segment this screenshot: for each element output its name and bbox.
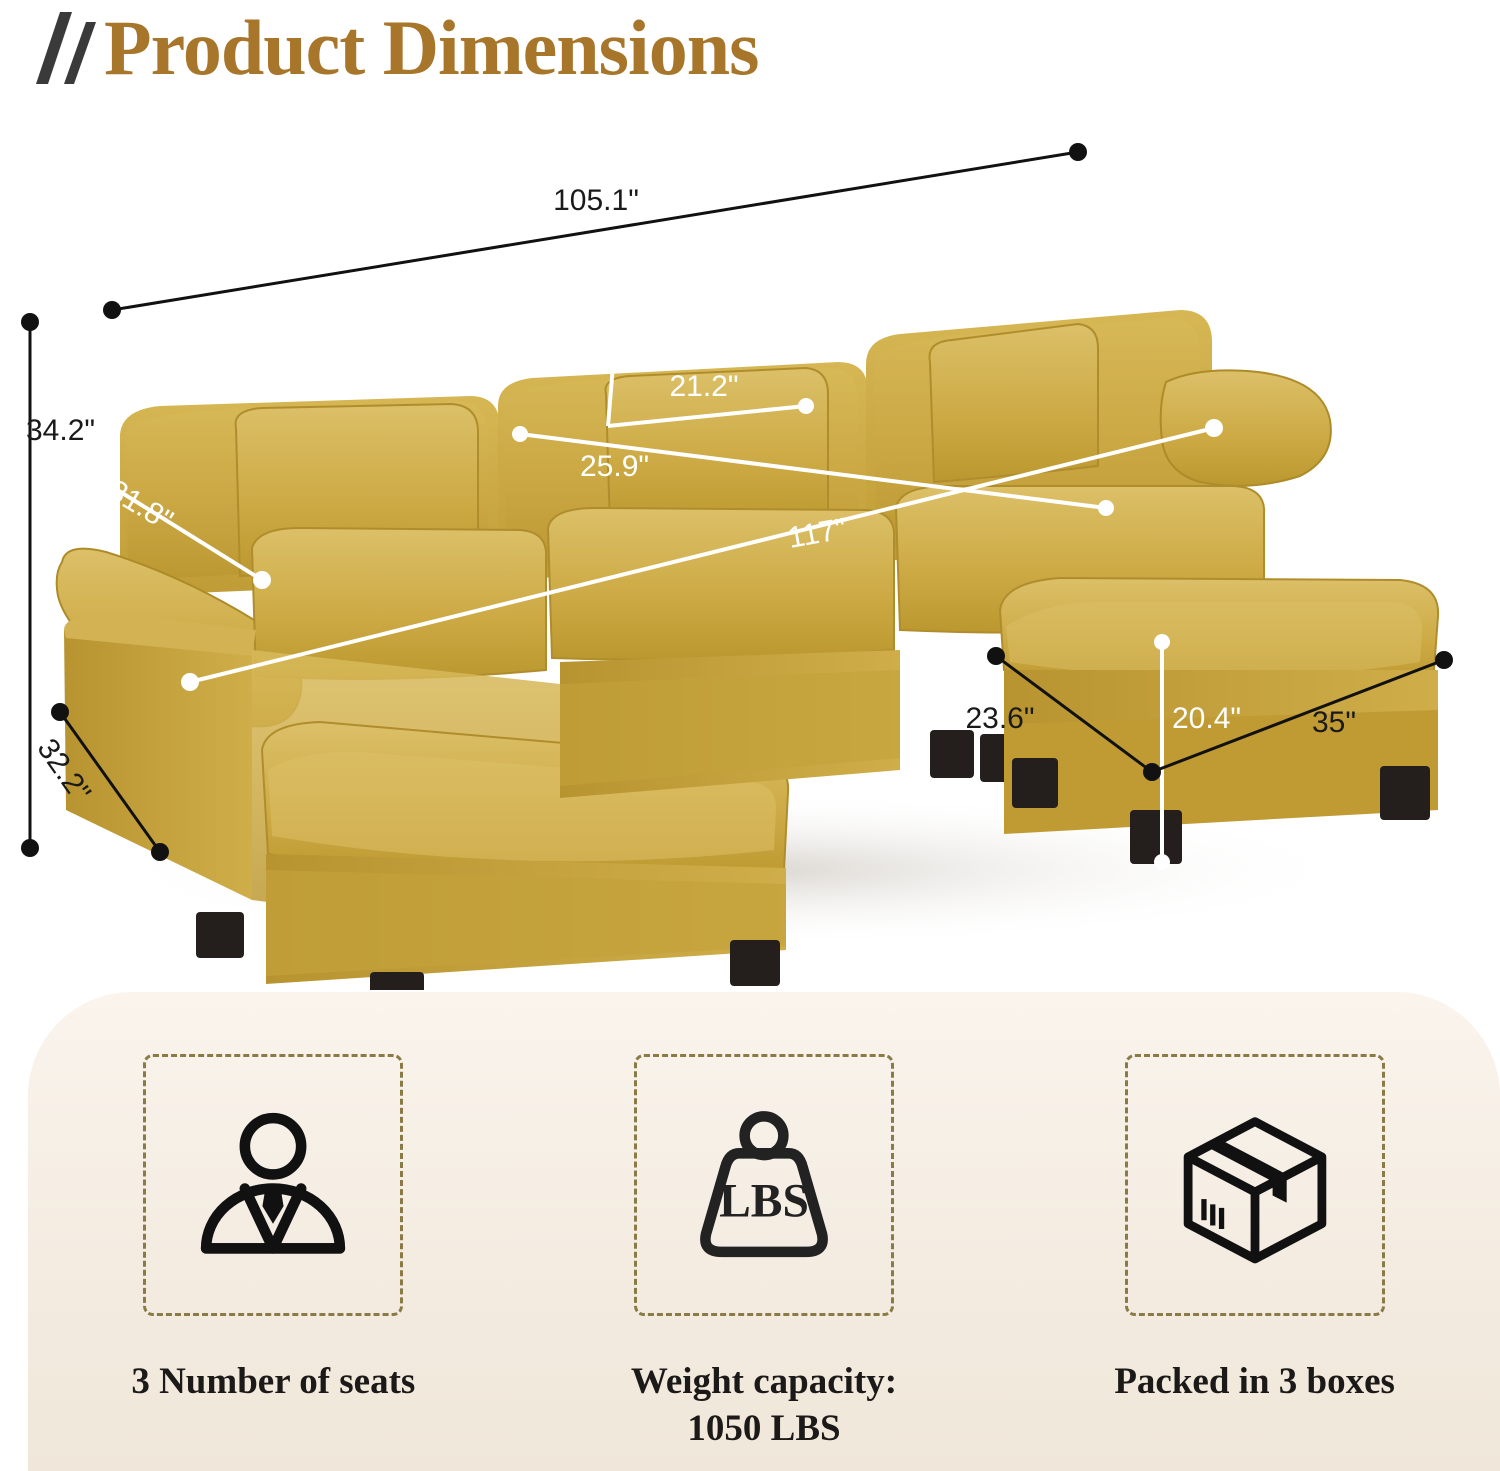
sofa-leg [1130,810,1182,864]
page-title: Product Dimensions [104,0,758,98]
boxes-label: Packed in 3 boxes [1114,1358,1395,1405]
weight-label: Weight capacity: 1050 LBS [631,1358,897,1453]
dimension-label: 15.7" [622,320,691,353]
person-in-suit-icon [185,1097,361,1273]
boxes-icon-box [1125,1054,1385,1316]
info-card-weight: LBS Weight capacity: 1050 LBS [564,1054,964,1453]
cardboard-box-icon [1167,1097,1343,1273]
info-panel: 3 Number of seats LBS Weight capacity: 1… [28,992,1500,1471]
dimension-label: 21.2" [669,370,738,403]
dimension-label: 35" [1312,706,1356,739]
sofa-leg [930,730,974,778]
svg-text:LBS: LBS [719,1176,809,1228]
sofa-right-arm [1161,370,1331,485]
product-image-area: 105.1" 34.2" 31.8" 15.7" 21.2" [0,110,1500,990]
dimension-label: 20.4" [1172,702,1241,735]
sofa-leg [730,940,780,986]
info-card-seats: 3 Number of seats [73,1054,473,1405]
info-card-boxes: Packed in 3 boxes [1055,1054,1455,1405]
weight-lbs-icon: LBS [676,1097,852,1273]
sofa-leg [370,972,424,990]
dimension-label: 105.1" [553,184,639,217]
dimension-overall-width: 105.1" [103,143,1087,319]
throw-pillow-right [929,324,1098,482]
sofa-leg [1012,758,1058,808]
middle-module-base [560,650,1024,798]
weight-icon-box: LBS [634,1054,894,1316]
seats-label: 3 Number of seats [131,1358,415,1405]
title-slashes-icon [34,8,104,88]
page-header: Product Dimensions [0,0,1500,110]
sofa-illustration: 105.1" 34.2" 31.8" 15.7" 21.2" [0,110,1500,990]
sofa-leg [1380,766,1430,820]
dimension-label: 25.9" [580,450,649,483]
seats-icon-box [143,1054,403,1316]
info-cards-row: 3 Number of seats LBS Weight capacity: 1… [28,992,1500,1471]
dimension-label: 23.6" [965,702,1034,735]
chaise-base [196,854,786,990]
sofa-leg [196,912,244,958]
dimension-label: 34.2" [26,414,95,447]
